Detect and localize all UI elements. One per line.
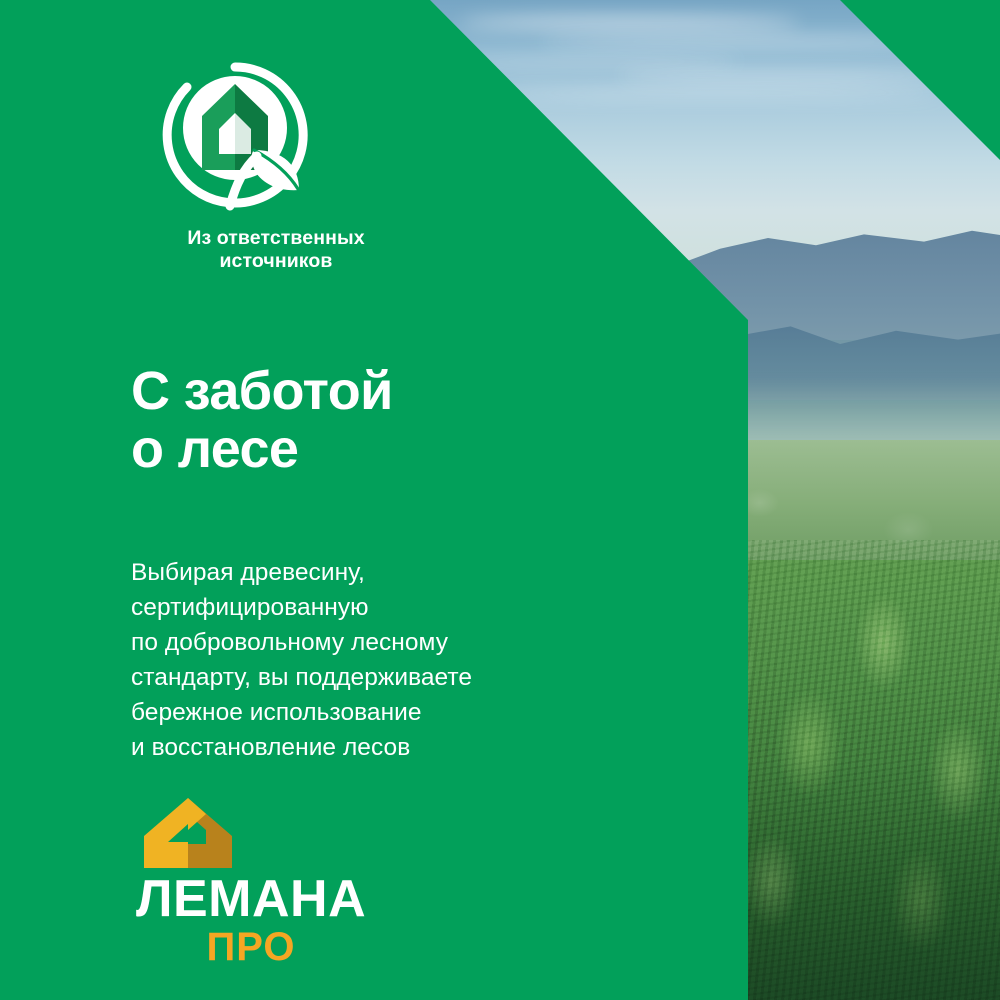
certification-badge: Из ответственных источников bbox=[126, 58, 426, 273]
poster-canvas: Из ответственных источников С заботой о … bbox=[0, 0, 1000, 1000]
poster-content: Из ответственных источников С заботой о … bbox=[0, 0, 1000, 1000]
body-copy: Выбирая древесину, сертифицированную по … bbox=[131, 555, 472, 765]
brand-lockup: ЛЕМАНА ПРО bbox=[136, 796, 366, 967]
responsible-sources-emblem-icon bbox=[158, 58, 426, 217]
certification-badge-caption: Из ответственных источников bbox=[126, 227, 426, 273]
brand-sub-name: ПРО bbox=[136, 927, 366, 967]
lemana-house-icon bbox=[136, 796, 366, 875]
page-title: С заботой о лесе bbox=[131, 362, 393, 479]
brand-name: ЛЕМАНА bbox=[136, 873, 366, 925]
